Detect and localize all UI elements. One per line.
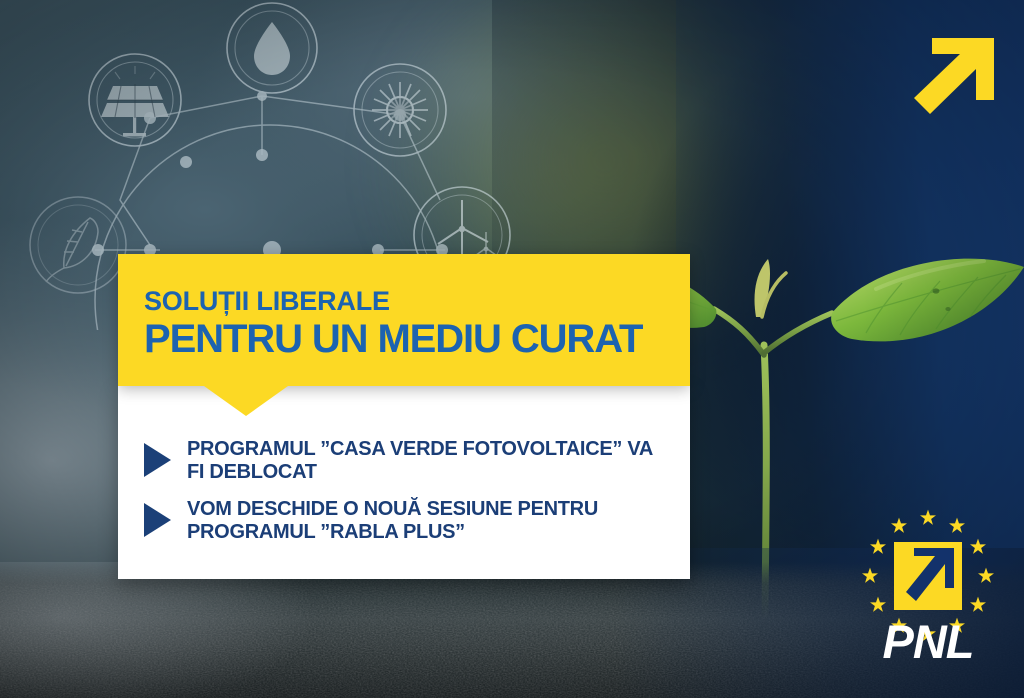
- triangle-right-icon: [144, 503, 171, 537]
- bullet-text: VOM DESCHIDE O NOUĂ SESIUNE PENTRU PROGR…: [187, 498, 664, 544]
- pnl-wordmark: PNL: [883, 615, 974, 660]
- bullet-item: VOM DESCHIDE O NOUĂ SESIUNE PENTRU PROGR…: [144, 498, 664, 544]
- campaign-poster: SOLUȚII LIBERALE PENTRU UN MEDIU CURAT P…: [0, 0, 1024, 698]
- arrow-up-right-icon: [908, 22, 1000, 114]
- pnl-logo: PNL: [852, 500, 1004, 660]
- triangle-right-icon: [144, 443, 171, 477]
- headline-small: SOLUȚII LIBERALE: [144, 288, 690, 315]
- headline-banner: SOLUȚII LIBERALE PENTRU UN MEDIU CURAT: [118, 254, 690, 386]
- bullet-text: PROGRAMUL ”CASA VERDE FOTOVOLTAICE” VA F…: [187, 438, 664, 484]
- headline-large: PENTRU UN MEDIU CURAT: [144, 319, 690, 360]
- bullet-item: PROGRAMUL ”CASA VERDE FOTOVOLTAICE” VA F…: [144, 438, 664, 484]
- pnl-arrow-icon: [894, 542, 962, 610]
- banner-pointer-tab: [204, 386, 288, 416]
- content-card: SOLUȚII LIBERALE PENTRU UN MEDIU CURAT P…: [118, 254, 690, 579]
